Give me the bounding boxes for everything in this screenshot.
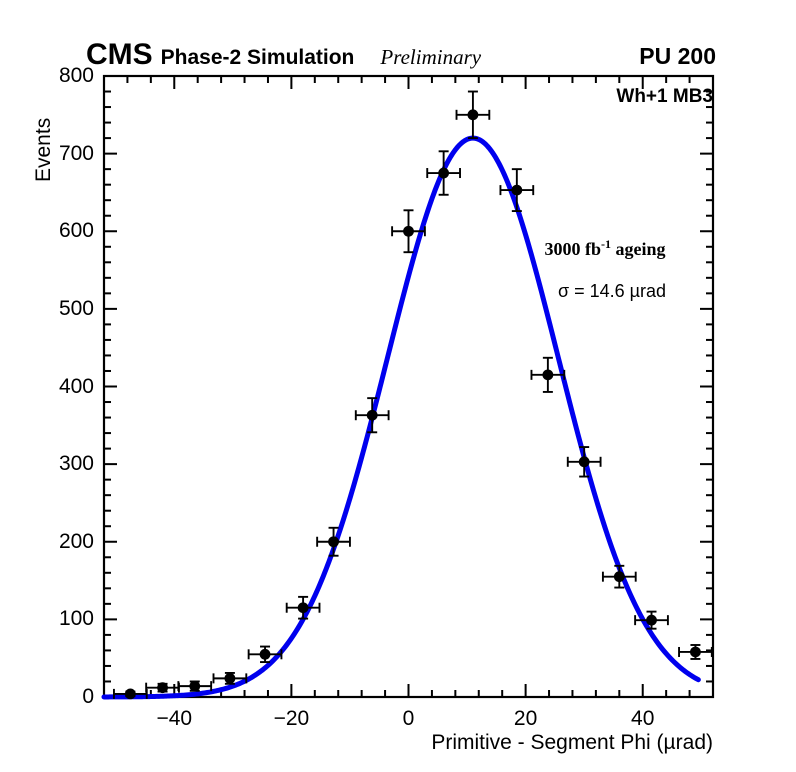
y-tick-label: 700 xyxy=(14,142,94,166)
data-point xyxy=(178,681,211,692)
y-tick-label: 800 xyxy=(14,64,94,88)
data-series-points xyxy=(114,92,712,700)
axis-ticks xyxy=(104,76,713,697)
y-tick-label: 600 xyxy=(14,219,94,243)
region-label: Wh+1 MB3 xyxy=(616,86,713,108)
y-tick-label: 100 xyxy=(14,607,94,631)
luminosity-value: 3000 fb xyxy=(544,239,601,259)
y-tick-label: 0 xyxy=(14,685,94,709)
y-tick-label: 300 xyxy=(14,452,94,476)
gaussian-fit-curve xyxy=(104,138,698,697)
plot-area xyxy=(0,0,796,772)
data-point xyxy=(457,92,490,139)
chart-canvas: CMS Phase-2 Simulation Preliminary PU 20… xyxy=(0,0,796,772)
data-point xyxy=(679,645,712,659)
luminosity-exponent: -1 xyxy=(601,237,611,251)
y-tick-label: 400 xyxy=(14,375,94,399)
y-tick-label: 200 xyxy=(14,530,94,554)
data-point xyxy=(568,447,601,476)
data-point xyxy=(427,151,460,194)
x-tick-label: 40 xyxy=(603,707,683,731)
x-tick-label: 0 xyxy=(369,707,449,731)
plot-frame xyxy=(104,76,713,697)
data-point xyxy=(392,210,425,252)
x-tick-label: −40 xyxy=(134,707,214,731)
data-point xyxy=(603,566,636,588)
x-tick-label: 20 xyxy=(486,707,566,731)
sigma-label: σ = 14.6 µrad xyxy=(558,281,666,302)
x-tick-label: −20 xyxy=(251,707,331,731)
data-point xyxy=(317,528,350,556)
luminosity-suffix: ageing xyxy=(611,239,666,259)
y-tick-label: 500 xyxy=(14,297,94,321)
luminosity-label: 3000 fb-1 ageing xyxy=(544,237,665,260)
data-point xyxy=(356,398,389,432)
